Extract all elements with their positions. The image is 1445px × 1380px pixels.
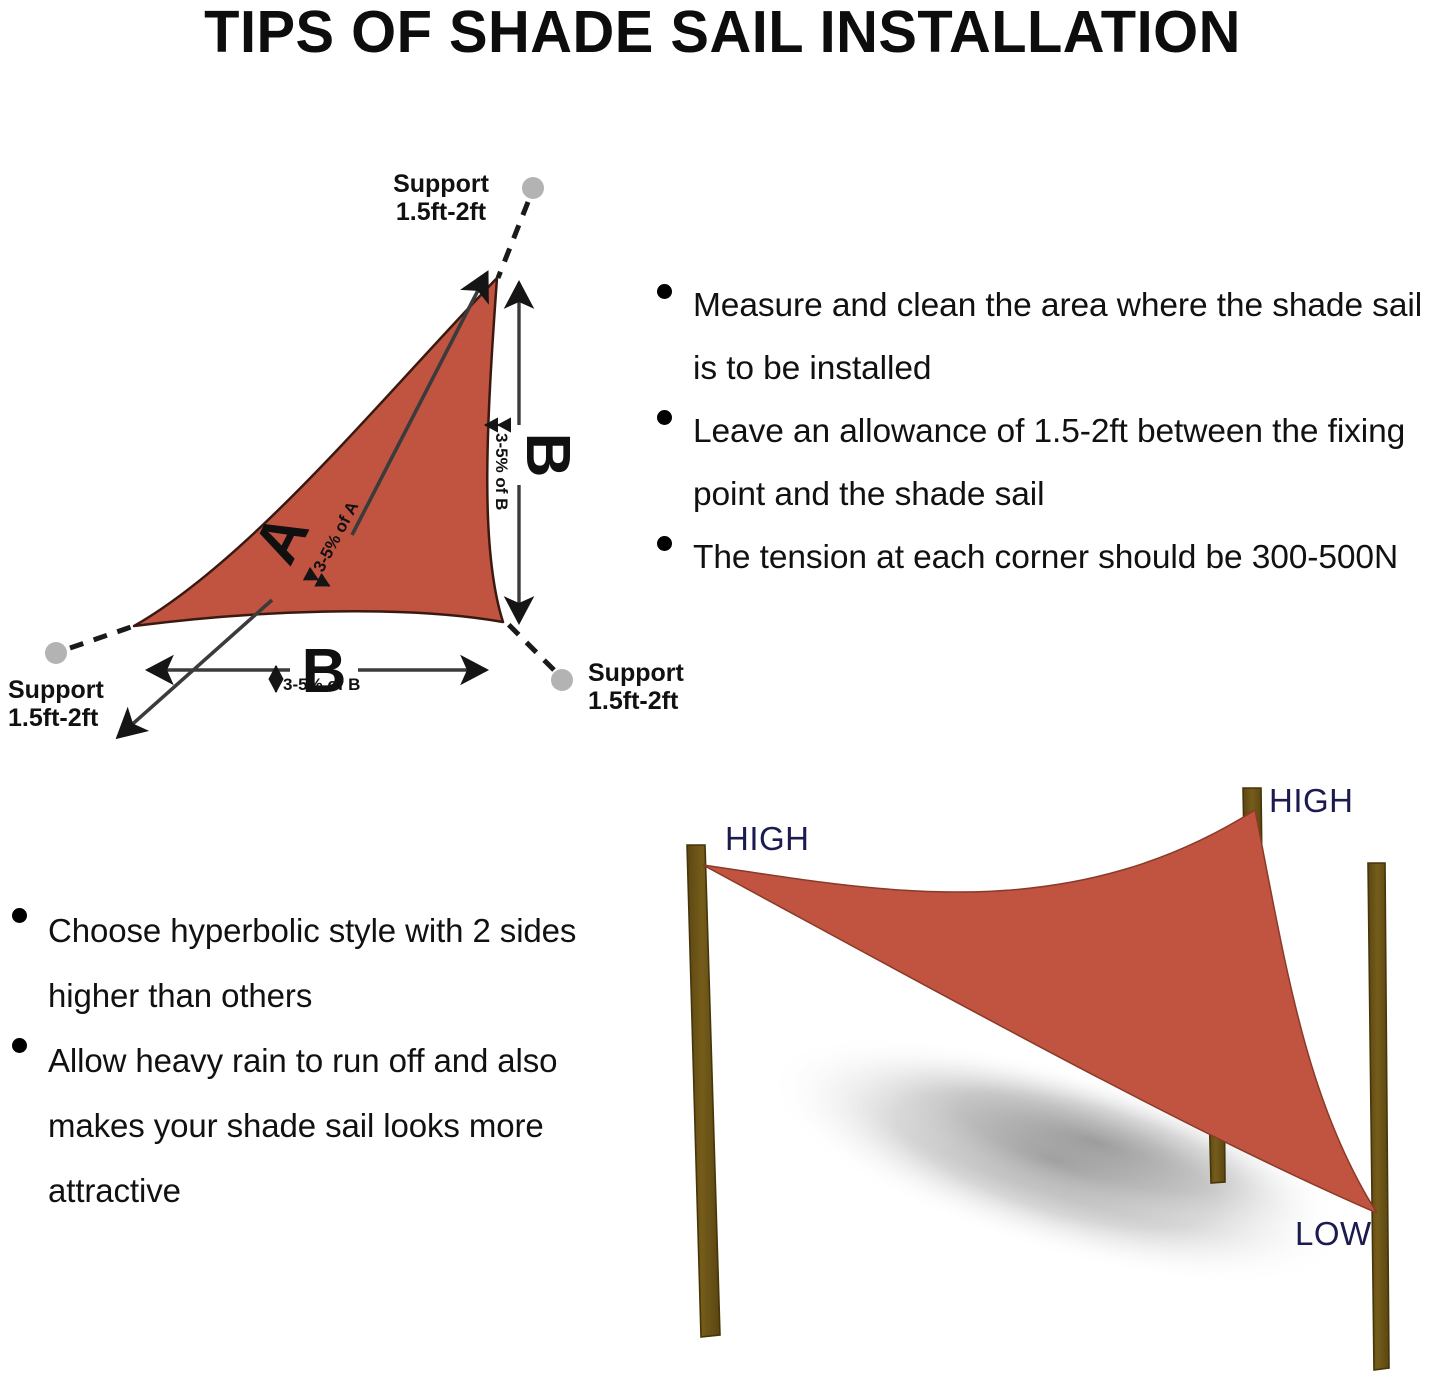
dimension-b-percent-right: 3-5% of B	[492, 433, 511, 510]
support-label-top: Support 1.5ft-2ft	[393, 170, 489, 226]
dimension-b-percent-bottom: 3-5% of B	[283, 675, 360, 694]
dimension-b-letter-right: B	[513, 433, 582, 478]
svg-text:1.5ft-2ft: 1.5ft-2ft	[588, 687, 679, 715]
measurement-diagram: A 3-5% of A B 3-5% of B B 3-5% of B	[0, 130, 700, 750]
svg-text:Support: Support	[588, 659, 684, 687]
tips-list-bottom: Choose hyperbolic style with 2 sides hig…	[10, 898, 630, 1223]
shade-sail-render: HIGH HIGH LOW	[665, 770, 1445, 1380]
post-far-right	[1368, 863, 1389, 1370]
list-item: Allow heavy rain to run off and also mak…	[10, 1028, 630, 1223]
page-title: TIPS OF SHADE SAIL INSTALLATION	[14, 0, 1430, 66]
support-label-right: Support 1.5ft-2ft	[588, 659, 684, 715]
support-dot-left	[45, 642, 67, 664]
bullet-dot-icon	[12, 908, 27, 923]
list-item-text: Allow heavy rain to run off and also mak…	[48, 1028, 630, 1223]
support-dash-left	[70, 626, 134, 648]
bullet-dot-icon	[657, 410, 672, 425]
list-item: Measure and clean the area where the sha…	[655, 274, 1445, 400]
dimension-b-letter-bottom: B	[302, 637, 347, 706]
bullet-dot-icon	[12, 1038, 27, 1053]
support-dash-top	[498, 202, 528, 278]
bullet-dot-icon	[657, 536, 672, 551]
svg-text:Support: Support	[8, 676, 104, 704]
support-dot-top	[522, 177, 544, 199]
post-left	[687, 845, 720, 1337]
support-label-left: Support 1.5ft-2ft	[8, 676, 104, 732]
label-high-right: HIGH	[1269, 782, 1354, 819]
label-low: LOW	[1295, 1215, 1372, 1252]
list-item-text: Leave an allowance of 1.5-2ft between th…	[693, 400, 1445, 526]
list-item: Choose hyperbolic style with 2 sides hig…	[10, 898, 630, 1028]
list-item: Leave an allowance of 1.5-2ft between th…	[655, 400, 1445, 526]
list-item-text: The tension at each corner should be 300…	[693, 526, 1445, 589]
list-item: The tension at each corner should be 300…	[655, 526, 1445, 589]
svg-text:Support: Support	[393, 170, 489, 198]
label-high-left: HIGH	[725, 820, 810, 857]
support-dot-right	[551, 669, 573, 691]
support-dash-right	[506, 622, 554, 670]
sail-shape-diagram	[134, 278, 503, 626]
list-item-text: Measure and clean the area where the sha…	[693, 274, 1445, 400]
svg-text:1.5ft-2ft: 1.5ft-2ft	[8, 704, 99, 732]
list-item-text: Choose hyperbolic style with 2 sides hig…	[48, 898, 630, 1028]
infographic-page: TIPS OF SHADE SAIL INSTALLATION	[0, 0, 1445, 1380]
svg-text:1.5ft-2ft: 1.5ft-2ft	[396, 198, 487, 226]
tips-list-top: Measure and clean the area where the sha…	[655, 274, 1445, 589]
bullet-dot-icon	[657, 284, 672, 299]
